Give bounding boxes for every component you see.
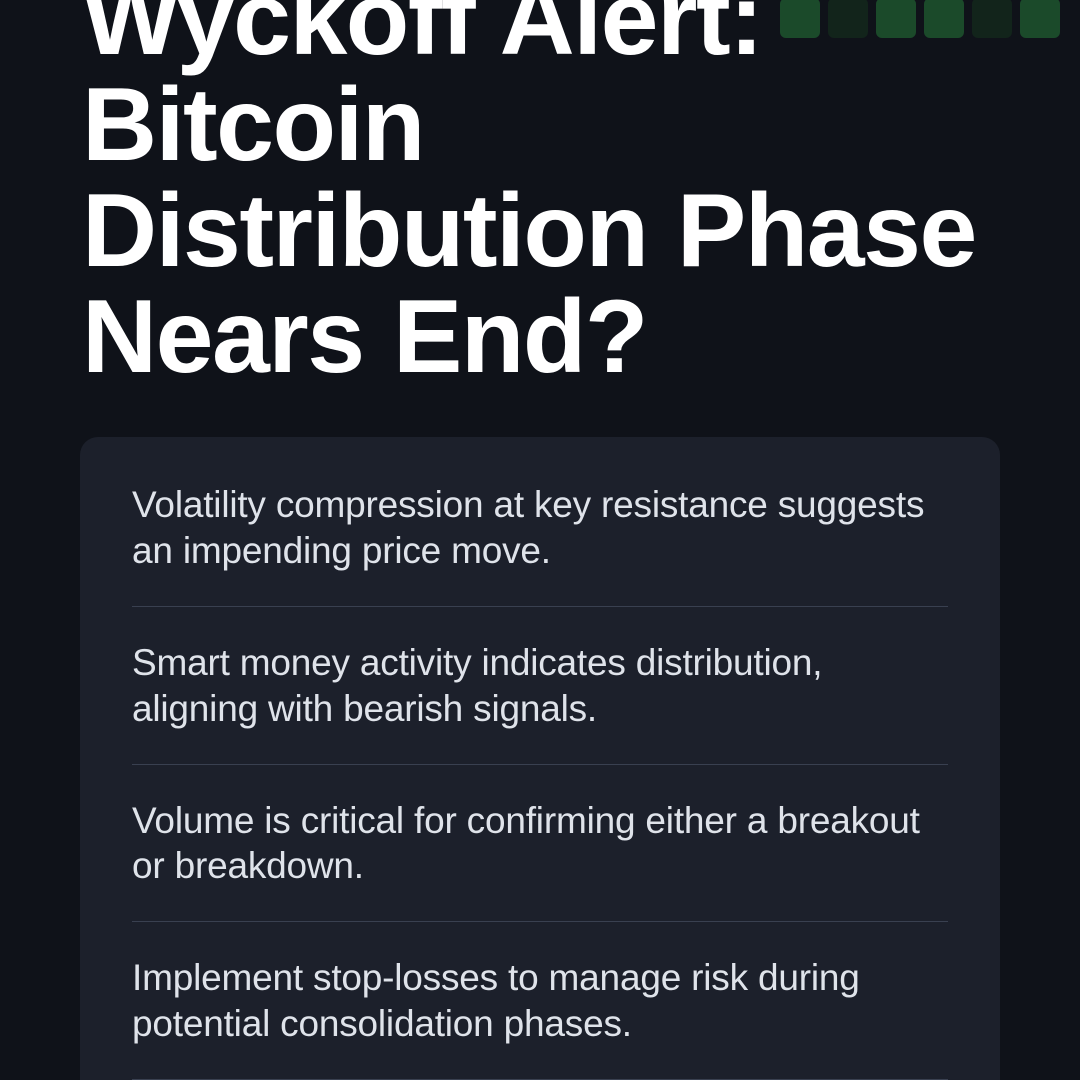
takeaway-item: Smart money activity indicates distribut… bbox=[132, 607, 948, 765]
takeaway-item: Implement stop-losses to manage risk dur… bbox=[132, 922, 948, 1080]
takeaway-item: Volume is critical for confirming either… bbox=[132, 765, 948, 923]
takeaway-item: Volatility compression at key resistance… bbox=[132, 437, 948, 607]
heat-cell-6-icon bbox=[1020, 0, 1060, 38]
page-title: Wyckoff Alert: Bitcoin Distribution Phas… bbox=[82, 0, 1012, 390]
key-takeaways-card: Volatility compression at key resistance… bbox=[80, 437, 1000, 1080]
takeaways-list: Volatility compression at key resistance… bbox=[132, 437, 948, 1080]
